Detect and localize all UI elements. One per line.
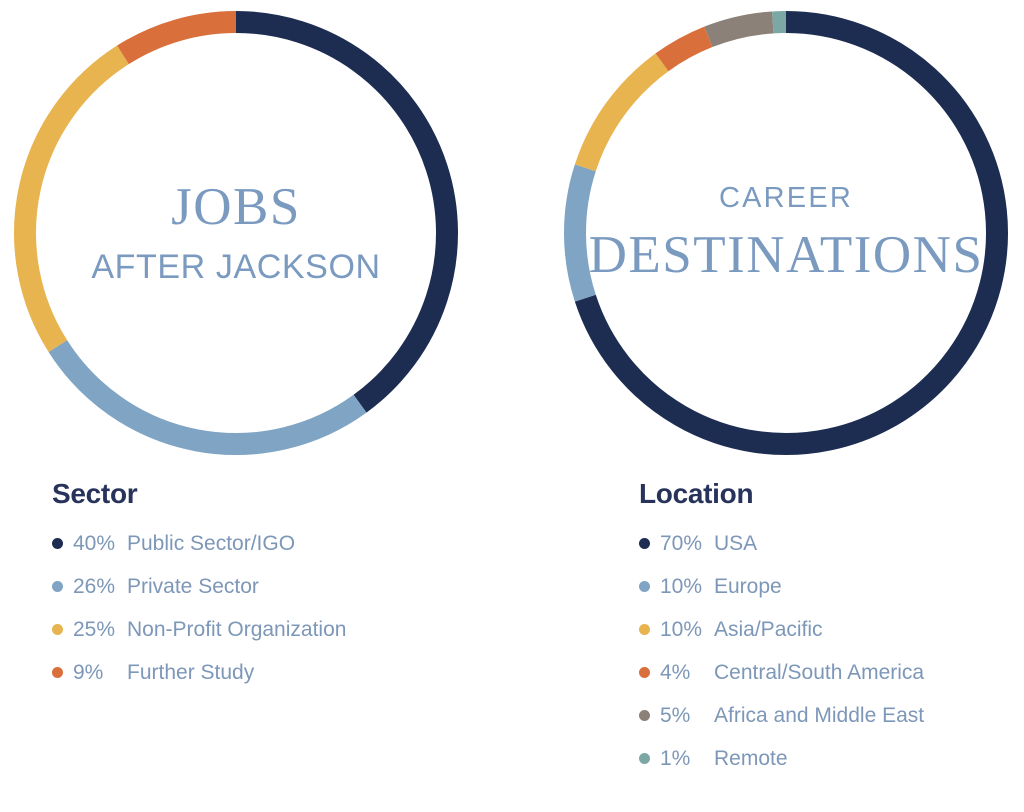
location-swatch-icon: [639, 581, 650, 592]
legend-title-sector: Sector: [52, 480, 346, 508]
legend-percent: 5%: [660, 704, 714, 728]
legend-label: USA: [714, 532, 757, 556]
legend-percent: 25%: [73, 618, 127, 642]
sector-swatch-icon: [52, 667, 63, 678]
donut-sector-svg: [13, 10, 459, 456]
location-swatch-icon: [639, 667, 650, 678]
infographic-root: JOBS AFTER JACKSON Sector 40%Public Sect…: [0, 0, 1024, 812]
legend-item: 9%Further Study: [52, 651, 346, 694]
donut-segment: [575, 168, 585, 298]
donut-segment: [236, 22, 447, 404]
legend-item: 40%Public Sector/IGO: [52, 522, 346, 565]
sector-swatch-icon: [52, 538, 63, 549]
legend-percent: 40%: [73, 532, 127, 556]
donut-segment: [123, 22, 236, 55]
legend-label: Africa and Middle East: [714, 704, 924, 728]
legend-sector: Sector 40%Public Sector/IGO26%Private Se…: [52, 480, 346, 694]
legend-percent: 26%: [73, 575, 127, 599]
donut-segment: [708, 22, 772, 36]
legend-label: Private Sector: [127, 575, 259, 599]
donut-location-svg: [563, 10, 1009, 456]
legend-label: Non-Profit Organization: [127, 618, 346, 642]
legend-percent: 10%: [660, 618, 714, 642]
location-swatch-icon: [639, 538, 650, 549]
legend-item: 26%Private Sector: [52, 565, 346, 608]
legend-item: 1%Remote: [639, 737, 924, 780]
legend-item: 10%Asia/Pacific: [639, 608, 924, 651]
legend-item: 5%Africa and Middle East: [639, 694, 924, 737]
legend-list-sector: 40%Public Sector/IGO26%Private Sector25%…: [52, 522, 346, 694]
legend-list-location: 70%USA10%Europe10%Asia/Pacific4%Central/…: [639, 522, 924, 780]
panel-jobs-after-jackson: JOBS AFTER JACKSON Sector 40%Public Sect…: [0, 0, 512, 812]
legend-percent: 4%: [660, 661, 714, 685]
legend-label: Remote: [714, 747, 788, 771]
location-swatch-icon: [639, 710, 650, 721]
legend-percent: 1%: [660, 747, 714, 771]
donut-chart-sector: JOBS AFTER JACKSON: [13, 10, 459, 456]
legend-item: 4%Central/South America: [639, 651, 924, 694]
legend-title-location: Location: [639, 480, 924, 508]
sector-swatch-icon: [52, 624, 63, 635]
donut-segment: [58, 346, 360, 444]
location-swatch-icon: [639, 624, 650, 635]
legend-item: 10%Europe: [639, 565, 924, 608]
sector-swatch-icon: [52, 581, 63, 592]
legend-location: Location 70%USA10%Europe10%Asia/Pacific4…: [639, 480, 924, 780]
legend-label: Central/South America: [714, 661, 924, 685]
legend-percent: 9%: [73, 661, 127, 685]
legend-item: 70%USA: [639, 522, 924, 565]
legend-percent: 10%: [660, 575, 714, 599]
donut-segment: [25, 55, 123, 346]
donut-segment: [662, 37, 708, 62]
legend-percent: 70%: [660, 532, 714, 556]
legend-label: Europe: [714, 575, 782, 599]
legend-item: 25%Non-Profit Organization: [52, 608, 346, 651]
legend-label: Asia/Pacific: [714, 618, 823, 642]
legend-label: Public Sector/IGO: [127, 532, 295, 556]
legend-label: Further Study: [127, 661, 254, 685]
donut-segment: [585, 62, 662, 168]
panel-career-destinations: CAREER DESTINATIONS Location 70%USA10%Eu…: [512, 0, 1024, 812]
donut-chart-location: CAREER DESTINATIONS: [563, 10, 1009, 456]
location-swatch-icon: [639, 753, 650, 764]
